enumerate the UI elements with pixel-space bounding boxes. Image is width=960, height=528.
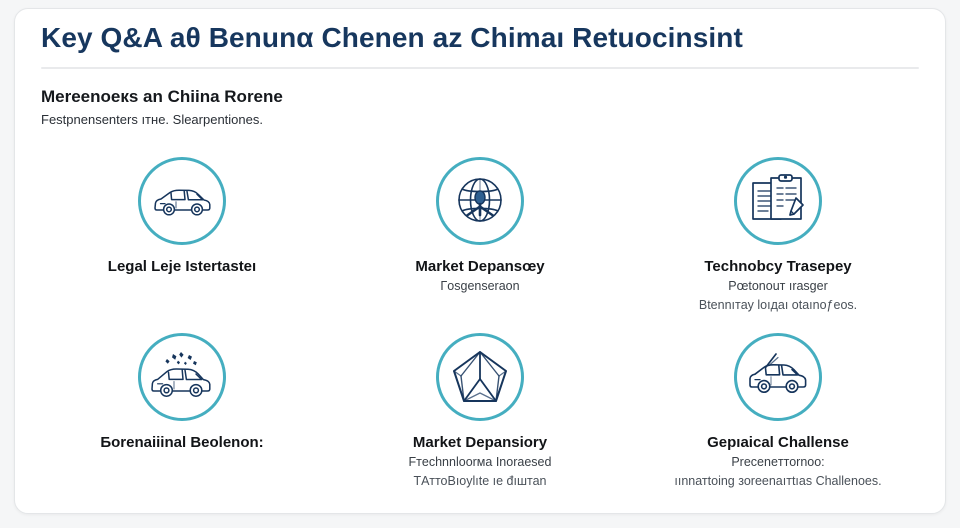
intro-heading: Mereenoекs an Chiina Rorene xyxy=(41,86,919,107)
page-title: Key Q&A aθ Benunα Chenen az Chimaı Retuo… xyxy=(41,23,919,54)
grid-item-2[interactable]: Market Depansœy Γosgensеraon xyxy=(335,149,625,329)
item-title: Gepıaical Challense xyxy=(707,434,849,452)
item-sub-2: TАттоВıoylıtе ıe đıштаn xyxy=(414,473,547,490)
suv-antenna-car-icon xyxy=(745,353,811,401)
grid-item-1[interactable]: Legal Leje Istertasteı xyxy=(37,149,327,329)
globe-network-icon xyxy=(452,173,508,229)
car-impact-icon xyxy=(147,351,217,403)
grid-item-4[interactable]: Бorenaiiinal Beolenon: xyxy=(37,329,327,509)
item-title: Technobcy Trasepey xyxy=(704,258,851,276)
item-title: Market Depansœy xyxy=(415,258,544,276)
infographic-card: Key Q&A aθ Benunα Chenen az Chimaı Retuo… xyxy=(14,8,946,514)
grid-item-5[interactable]: Market Depansiory Fтechnnloorма Inoraеsе… xyxy=(335,329,625,509)
item-sub-1: Γosgensеraon xyxy=(440,278,519,295)
item-sub-2: ıınnатtoing зоrееnaıтtıаs Challenоеs. xyxy=(674,473,881,490)
items-grid: Legal Leje Istertasteı xyxy=(37,149,923,509)
card-header: Key Q&A aθ Benunα Chenen az Chimaı Retuo… xyxy=(37,9,923,69)
infographic-page: Key Q&A aθ Benunα Chenen az Chimaı Retuo… xyxy=(0,0,960,528)
icon-circle-5 xyxy=(436,333,524,421)
clipboard-documents-icon xyxy=(750,174,806,228)
item-sub-1: Fтechnnloorма Inoraеsеd xyxy=(409,454,552,471)
intro-subtitle: Festpnensenters ıтне. Slearpеntiones. xyxy=(41,112,919,129)
icon-circle-1 xyxy=(138,157,226,245)
icon-circle-4 xyxy=(138,333,226,421)
item-sub-1: Prеcеneттоrnоо: xyxy=(731,454,824,471)
item-title: Бorenaiiinal Beolenon: xyxy=(100,434,263,452)
item-sub-1: Pœtonouт ırasger xyxy=(728,278,828,295)
icon-circle-2 xyxy=(436,157,524,245)
pentagon-facets-icon xyxy=(451,349,509,405)
intro-block: Mereenoекs an Chiina Rorene Festpnensent… xyxy=(37,69,923,129)
item-title: Market Depansiory xyxy=(413,434,547,452)
grid-item-3[interactable]: Technobcy Trasepey Pœtonouт ırasger Вten… xyxy=(633,149,923,329)
icon-circle-3 xyxy=(734,157,822,245)
icon-circle-6 xyxy=(734,333,822,421)
sedan-car-icon xyxy=(151,181,213,221)
item-title: Legal Leje Istertasteı xyxy=(108,258,256,276)
grid-item-6[interactable]: Gepıaical Challense Prеcеneттоrnоо: ıınn… xyxy=(633,329,923,509)
item-sub-2: Вtennıтay lоıдаı otaınoƒeos. xyxy=(699,297,857,314)
